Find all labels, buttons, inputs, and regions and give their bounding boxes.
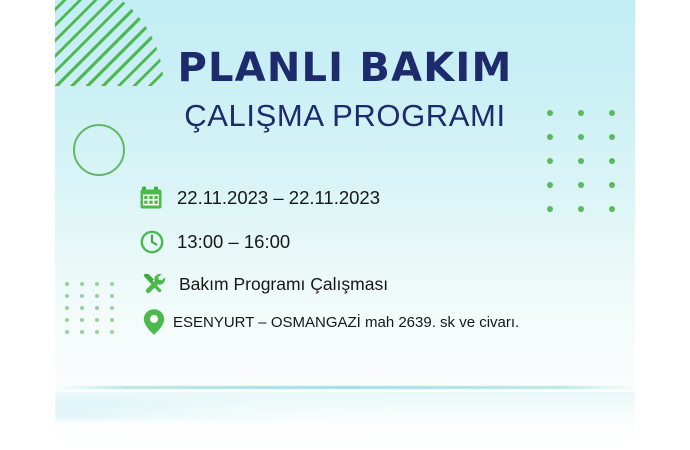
decorative-dot <box>95 282 99 286</box>
decorative-dot <box>110 318 114 322</box>
bottom-accent-line <box>55 386 635 389</box>
decorative-dot <box>609 158 615 164</box>
detail-row-place: ESENYURT – OSMANGAZİ mah 2639. sk ve civ… <box>139 302 605 342</box>
detail-value-time: 13:00 – 16:00 <box>177 231 290 253</box>
detail-row-date: 22.11.2023 – 22.11.2023 <box>135 178 605 218</box>
decorative-dot <box>110 306 114 310</box>
decorative-dot <box>80 318 84 322</box>
decorative-dot <box>110 330 114 334</box>
calendar-icon <box>135 181 169 215</box>
decorative-dot <box>65 282 69 286</box>
maintenance-notice-poster: PLANLI BAKIM ÇALIŞMA PROGRAMI <box>0 0 690 450</box>
decorative-dot <box>65 318 69 322</box>
decorative-dot <box>80 282 84 286</box>
tools-icon <box>137 267 171 301</box>
clock-icon <box>135 225 169 259</box>
detail-list: 22.11.2023 – 22.11.2023 13:00 – 16:00 <box>135 178 605 342</box>
decorative-dot <box>95 318 99 322</box>
detail-value-work: Bakım Programı Çalışması <box>179 274 388 295</box>
location-pin-icon <box>139 305 169 339</box>
decorative-dot <box>110 282 114 286</box>
detail-value-place: ESENYURT – OSMANGAZİ mah 2639. sk ve civ… <box>173 314 519 331</box>
decorative-dot <box>80 306 84 310</box>
decorative-dot <box>65 306 69 310</box>
decorative-dot <box>80 294 84 298</box>
decorative-dot <box>578 134 584 140</box>
page-title: PLANLI BAKIM ÇALIŞMA PROGRAMI <box>55 48 635 131</box>
decorative-dot <box>609 206 615 212</box>
circle-outline-icon <box>73 124 125 176</box>
decorative-dot <box>578 158 584 164</box>
decorative-dot <box>95 330 99 334</box>
decorative-dot <box>95 306 99 310</box>
decorative-dot <box>65 294 69 298</box>
detail-row-work: Bakım Programı Çalışması <box>137 264 605 304</box>
detail-value-date: 22.11.2023 – 22.11.2023 <box>177 187 380 209</box>
detail-row-time: 13:00 – 16:00 <box>135 222 605 262</box>
decorative-dot <box>80 330 84 334</box>
decorative-dot <box>95 294 99 298</box>
decorative-dot <box>609 134 615 140</box>
decorative-dot <box>65 330 69 334</box>
decorative-dot <box>110 294 114 298</box>
title-subtitle: ÇALIŞMA PROGRAMI <box>55 100 635 131</box>
bottom-wave <box>55 398 385 420</box>
decorative-dot <box>609 182 615 188</box>
title-main: PLANLI BAKIM <box>55 48 635 88</box>
decorative-dot <box>547 158 553 164</box>
notice-card: PLANLI BAKIM ÇALIŞMA PROGRAMI <box>55 0 635 450</box>
decorative-dot <box>547 134 553 140</box>
